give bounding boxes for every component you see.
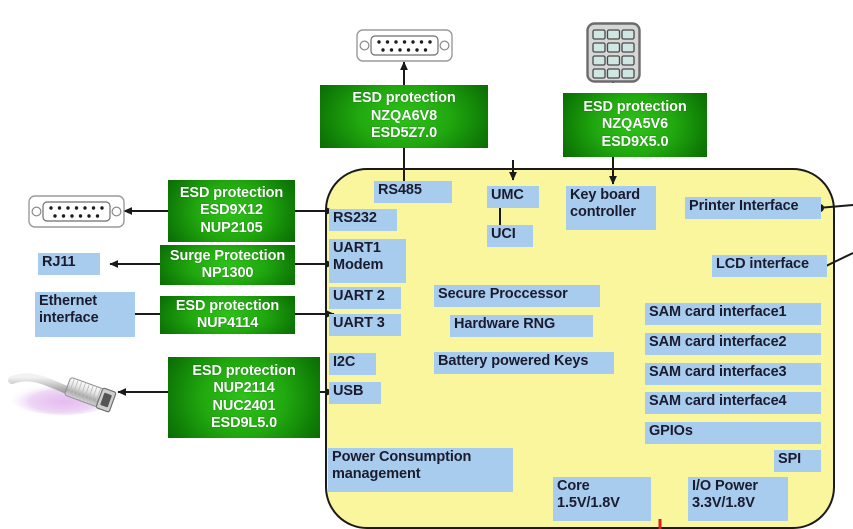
- protection-box-label: Surge Protection NP1300: [170, 248, 285, 283]
- soc-block-sam-card-interface4[interactable]: SAM card interface4: [645, 392, 821, 414]
- block-diagram-canvas: ESD protection NZQA6V8 ESD5Z7.0 ESD prot…: [0, 0, 853, 529]
- soc-block-sam-card-interface1[interactable]: SAM card interface1: [645, 303, 821, 325]
- protection-box-esd-rs232[interactable]: ESD protection ESD9X12 NUP2105: [168, 180, 295, 242]
- soc-block-hardware-rng[interactable]: Hardware RNG: [450, 315, 593, 337]
- soc-block-core-power[interactable]: Core 1.5V/1.8V: [553, 477, 651, 521]
- soc-block-io-power[interactable]: I/O Power 3.3V/1.8V: [688, 477, 788, 521]
- external-label-rj11[interactable]: RJ11: [38, 253, 100, 275]
- soc-block-usb[interactable]: USB: [329, 382, 381, 404]
- keypad-icon: [586, 22, 641, 83]
- protection-box-label: ESD protection NZQA5V6 ESD9X5.0: [583, 99, 686, 151]
- external-label-ethernet[interactable]: Ethernet interface: [35, 292, 135, 337]
- soc-block-gpios[interactable]: GPIOs: [645, 422, 821, 444]
- soc-block-sam-card-interface3[interactable]: SAM card interface3: [645, 363, 821, 385]
- usb-cable-icon: [8, 358, 118, 418]
- soc-block-uart1-modem[interactable]: UART1 Modem: [329, 239, 406, 283]
- db9-connector-icon: [356, 29, 453, 62]
- protection-box-esd-usb[interactable]: ESD protection NUP2114 NUC2401 ESD9L5.0: [168, 357, 320, 438]
- protection-box-surge-rj11[interactable]: Surge Protection NP1300: [160, 245, 295, 285]
- soc-block-sam-card-interface2[interactable]: SAM card interface2: [645, 333, 821, 355]
- soc-block-secure-processor[interactable]: Secure Proccessor: [434, 285, 600, 307]
- soc-block-printer-interface[interactable]: Printer Interface: [685, 197, 821, 219]
- soc-block-uci[interactable]: UCI: [487, 225, 533, 247]
- soc-block-lcd-interface[interactable]: LCD interface: [712, 255, 827, 277]
- soc-block-umc[interactable]: UMC: [487, 186, 539, 208]
- soc-block-spi[interactable]: SPI: [774, 450, 821, 472]
- soc-block-uart3[interactable]: UART 3: [329, 314, 401, 336]
- soc-block-rs232[interactable]: RS232: [329, 209, 397, 231]
- db9-connector-icon: [28, 195, 125, 228]
- protection-box-label: ESD protection NZQA6V8 ESD5Z7.0: [352, 90, 455, 142]
- soc-block-i2c[interactable]: I2C: [329, 353, 376, 375]
- protection-box-esd-keyboard[interactable]: ESD protection NZQA5V6 ESD9X5.0: [563, 93, 707, 157]
- soc-block-rs485[interactable]: RS485: [374, 181, 452, 203]
- protection-box-label: ESD protection NUP4114: [176, 298, 279, 333]
- protection-box-label: ESD protection ESD9X12 NUP2105: [180, 185, 283, 237]
- soc-block-battery-powered-keys[interactable]: Battery powered Keys: [434, 352, 614, 374]
- protection-box-label: ESD protection NUP2114 NUC2401 ESD9L5.0: [192, 363, 295, 433]
- soc-block-power-consumption-management[interactable]: Power Consumption management: [328, 448, 513, 492]
- soc-block-keyboard-controller[interactable]: Key board controller: [566, 186, 656, 230]
- soc-block-uart2[interactable]: UART 2: [329, 287, 401, 309]
- protection-box-esd-ethernet[interactable]: ESD protection NUP4114: [160, 296, 295, 334]
- protection-box-esd-rs485[interactable]: ESD protection NZQA6V8 ESD5Z7.0: [320, 85, 488, 148]
